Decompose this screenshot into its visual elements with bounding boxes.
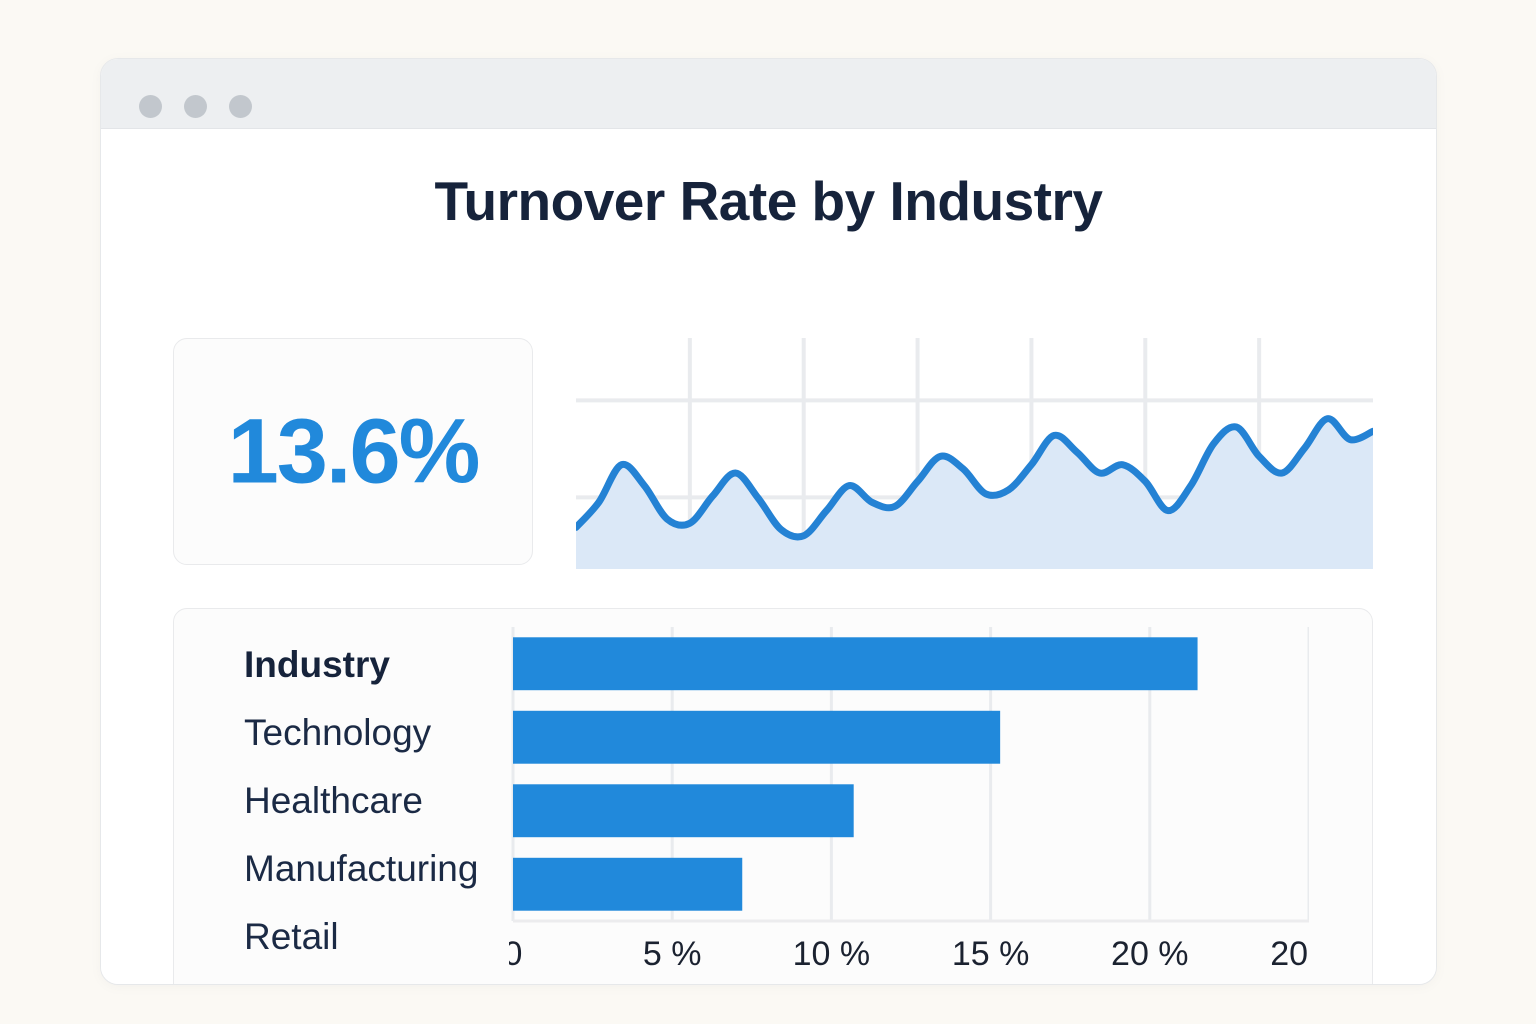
bar-chart-x-axis-ticklabels: 05 %10 %15 %20 %20 % — [509, 935, 1309, 973]
svg-text:0: 0 — [509, 935, 522, 973]
maximize-dot-icon[interactable] — [229, 95, 252, 118]
industry-bar-plot-svg: 05 %10 %15 %20 %20 % — [509, 621, 1309, 985]
bar-label-technology: Technology — [244, 699, 544, 767]
trend-sparkline-svg — [576, 338, 1373, 569]
svg-text:5 %: 5 % — [643, 935, 702, 973]
industry-bar-card: Industry Technology Healthcare Manufactu… — [173, 608, 1373, 985]
svg-text:10 %: 10 % — [793, 935, 871, 973]
window-titlebar — [101, 59, 1436, 129]
industry-bar-plot: 05 %10 %15 %20 %20 % — [509, 621, 1309, 985]
bar-label-healthcare: Healthcare — [244, 767, 544, 835]
bar-label-retail: Retail — [244, 903, 544, 971]
page-title: Turnover Rate by Industry — [101, 169, 1436, 233]
svg-text:15 %: 15 % — [952, 935, 1030, 973]
svg-text:20 %: 20 % — [1270, 935, 1309, 973]
minimize-dot-icon[interactable] — [184, 95, 207, 118]
close-dot-icon[interactable] — [139, 95, 162, 118]
kpi-card: 13.6% — [173, 338, 533, 565]
industry-label-column: Industry Technology Healthcare Manufactu… — [244, 631, 544, 971]
svg-text:20 %: 20 % — [1111, 935, 1189, 973]
kpi-value: 13.6% — [174, 399, 532, 504]
bar-chart-bars — [513, 637, 1198, 910]
browser-window: Turnover Rate by Industry 13.6% Industry… — [100, 58, 1437, 985]
bar-label-industry: Industry — [244, 631, 544, 699]
trend-sparkline-panel — [576, 338, 1373, 569]
window-content: Turnover Rate by Industry 13.6% Industry… — [101, 129, 1436, 984]
bar-label-manufacturing: Manufacturing — [244, 835, 544, 903]
